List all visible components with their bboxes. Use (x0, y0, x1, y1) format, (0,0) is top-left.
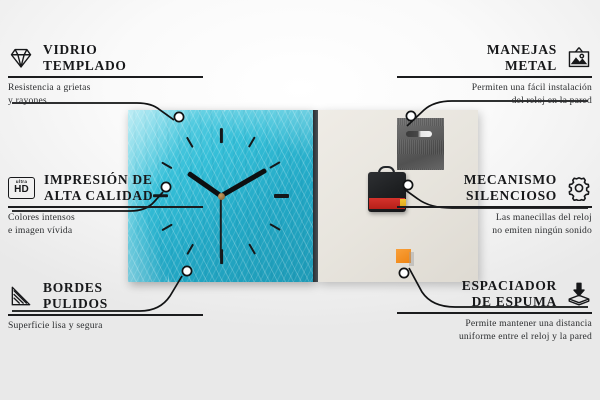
feature-divider (8, 76, 203, 78)
feature-desc-line2: y rayones (8, 95, 47, 106)
feature-divider (8, 314, 203, 316)
feature-title: ESPACIADOR DE ESPUMA (462, 278, 557, 309)
feature-title: MECANISMO SILENCIOSO (464, 172, 557, 203)
ultra-hd-badge-icon: ultra HD (8, 177, 35, 199)
feature-title-line1: ESPACIADOR (462, 278, 557, 293)
gear-icon (566, 175, 592, 201)
clock-second-hand (220, 196, 222, 258)
feature-manejas-metal: MANEJAS METAL Permiten una fácil instala… (397, 42, 592, 107)
feature-desc-line1: Resistencia a grietas (8, 82, 91, 93)
feature-heading: BORDES PULIDOS (8, 280, 203, 311)
feature-divider (8, 206, 203, 208)
feature-desc-line1: Colores intensos (8, 212, 75, 223)
feature-title-line1: BORDES (43, 280, 103, 295)
feature-desc-line1: Permite mantener una distancia (465, 318, 592, 329)
feature-bordes-pulidos: BORDES PULIDOS Superficie lisa y segura (8, 280, 203, 333)
feature-divider (397, 206, 592, 208)
feature-heading: MANEJAS METAL (397, 42, 592, 73)
feature-heading: VIDRIO TEMPLADO (8, 42, 203, 73)
feature-description: Colores intensos e imagen vívida (8, 212, 203, 237)
feature-title-line1: IMPRESIÓN DE (44, 172, 153, 187)
feature-desc-line1: Permiten una fácil instalación (472, 82, 592, 93)
feature-desc-line2: no emiten ningún sonido (492, 225, 592, 236)
metal-hanger-plate (397, 118, 444, 170)
feature-title: BORDES PULIDOS (43, 280, 108, 311)
diamond-icon (8, 45, 34, 71)
feature-description: Superficie lisa y segura (8, 320, 203, 333)
feature-title-line2: SILENCIOSO (466, 188, 557, 203)
feature-description: Resistencia a grietas y rayones (8, 82, 203, 107)
feature-title-line1: VIDRIO (43, 42, 97, 57)
feature-heading: ESPACIADOR DE ESPUMA (397, 278, 592, 309)
feature-title-line1: MANEJAS (487, 42, 557, 57)
arrow-onto-pad-icon (566, 281, 592, 307)
feature-desc-line1: Las manecillas del reloj (496, 212, 592, 223)
foam-spacer (396, 249, 411, 263)
feature-desc-line2: uniforme entre el reloj y la pared (459, 331, 592, 342)
hd-badge-hd-text: HD (14, 185, 29, 195)
feature-title-line2: TEMPLADO (43, 58, 127, 73)
feature-title: IMPRESIÓN DE ALTA CALIDAD (44, 172, 153, 203)
feature-title-line2: PULIDOS (43, 296, 108, 311)
feature-vidrio-templado: VIDRIO TEMPLADO Resistencia a grietas y … (8, 42, 203, 107)
clock-tick (274, 194, 289, 197)
feature-title-line2: DE ESPUMA (472, 294, 557, 309)
feature-title-line2: METAL (505, 58, 557, 73)
feature-title: VIDRIO TEMPLADO (43, 42, 127, 73)
feature-impresion-alta-calidad: ultra HD IMPRESIÓN DE ALTA CALIDAD Color… (8, 172, 203, 237)
clock-tick (219, 128, 222, 143)
feature-desc-line1: Superficie lisa y segura (8, 320, 103, 331)
feature-desc-line2: e imagen vívida (8, 225, 72, 236)
clock-center-cap (218, 193, 225, 200)
polished-edge-icon (8, 283, 34, 309)
clock-glass-edge (313, 110, 318, 282)
feature-title-line2: ALTA CALIDAD (44, 188, 153, 203)
hanging-frame-icon (566, 45, 592, 71)
feature-title-line1: MECANISMO (464, 172, 557, 187)
feature-divider (397, 76, 592, 78)
infographic-canvas: VIDRIO TEMPLADO Resistencia a grietas y … (0, 0, 600, 400)
feature-heading: ultra HD IMPRESIÓN DE ALTA CALIDAD (8, 172, 203, 203)
feature-heading: MECANISMO SILENCIOSO (397, 172, 592, 203)
feature-title: MANEJAS METAL (487, 42, 557, 73)
feature-description: Permite mantener una distancia uniforme … (397, 318, 592, 343)
feature-divider (397, 312, 592, 314)
feature-desc-line2: del reloj en la pared (512, 95, 592, 106)
feature-mecanismo-silencioso: MECANISMO SILENCIOSO Las manecillas del … (397, 172, 592, 237)
hanger-slot (406, 131, 432, 137)
feature-description: Las manecillas del reloj no emiten ningú… (397, 212, 592, 237)
feature-espaciador-espuma: ESPACIADOR DE ESPUMA Permite mantener un… (397, 278, 592, 343)
feature-description: Permiten una fácil instalación del reloj… (397, 82, 592, 107)
